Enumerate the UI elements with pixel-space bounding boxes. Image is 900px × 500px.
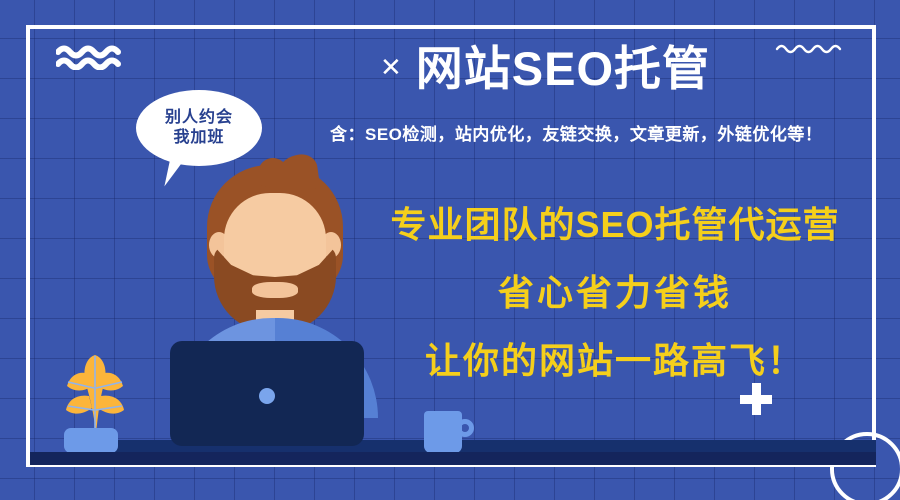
plant-pot bbox=[64, 428, 118, 453]
title-row: ✕ 网站SEO托管 bbox=[330, 44, 760, 93]
x-mark-icon: ✕ bbox=[380, 54, 402, 84]
speech-bubble-line-2: 我加班 bbox=[173, 128, 224, 148]
frame-top-border bbox=[26, 25, 876, 29]
laptop-logo-icon bbox=[259, 388, 275, 404]
wave-lines-icon bbox=[56, 44, 128, 70]
subtitle: 含：SEO检测，站内优化，友链交换，文章更新，外链优化等！ bbox=[330, 120, 890, 145]
frame-left-border bbox=[26, 25, 30, 467]
speech-bubble: 别人约会 我加班 bbox=[136, 90, 262, 166]
desk-top-surface bbox=[30, 452, 876, 465]
speech-bubble-line-1: 别人约会 bbox=[165, 108, 233, 128]
slogan-line-2: 省心省力省钱 bbox=[380, 264, 850, 316]
slogan-line-3: 让你的网站一路高飞！ bbox=[380, 332, 850, 384]
seo-hosting-banner: ✕ 网站SEO托管 含：SEO检测，站内优化，友链交换，文章更新，外链优化等！ … bbox=[0, 0, 900, 500]
frame-right-border bbox=[872, 25, 876, 467]
slogan-line-1: 专业团队的SEO托管代运营 bbox=[380, 196, 850, 248]
wave-line-icon bbox=[775, 42, 847, 56]
mouth-illustration bbox=[252, 282, 298, 298]
page-title: 网站SEO托管 bbox=[416, 44, 710, 93]
plus-icon bbox=[740, 383, 772, 415]
coffee-mug-handle bbox=[456, 419, 474, 437]
potted-plant-leaf-icon bbox=[60, 352, 130, 437]
